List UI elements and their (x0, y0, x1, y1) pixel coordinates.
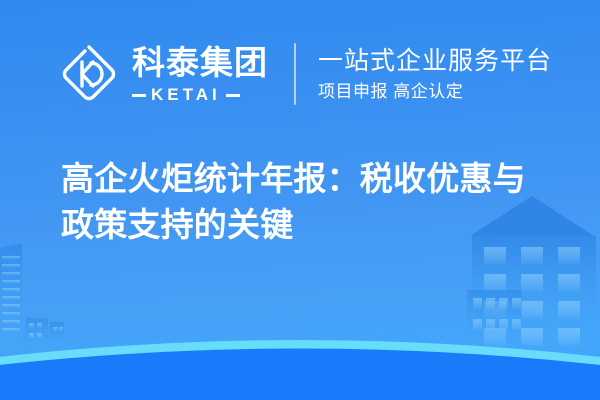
tagline-primary: 一站式企业服务平台 (318, 45, 552, 77)
striped-skyscraper-icon (0, 243, 22, 352)
tagline-block: 一站式企业服务平台 项目申报 高企认定 (318, 45, 552, 104)
promo-banner: 科泰集团 KETAI 一站式企业服务平台 项目申报 高企认定 高企火炬统计年报：… (0, 0, 600, 400)
header-divider (294, 43, 296, 105)
logo-wordmark: 科泰集团 KETAI (132, 43, 268, 105)
low-rise-building-icon-left (26, 318, 64, 352)
tagline-secondary: 项目申报 高企认定 (318, 80, 552, 104)
logo-dash-left (132, 94, 146, 97)
ground-arc-curve-icon (0, 340, 600, 400)
logo-chinese-name: 科泰集团 (132, 43, 268, 83)
logo-latin-name: KETAI (132, 85, 268, 105)
logo-latin-text: KETAI (151, 85, 221, 105)
ketai-diamond-monogram-icon (58, 43, 120, 105)
logo-dash-right (226, 94, 240, 97)
brand-header: 科泰集团 KETAI 一站式企业服务平台 项目申报 高企认定 (58, 36, 552, 112)
low-rise-building-icon-right (467, 290, 522, 354)
page-title: 高企火炬统计年报：税收优惠与政策支持的关键 (61, 156, 553, 248)
